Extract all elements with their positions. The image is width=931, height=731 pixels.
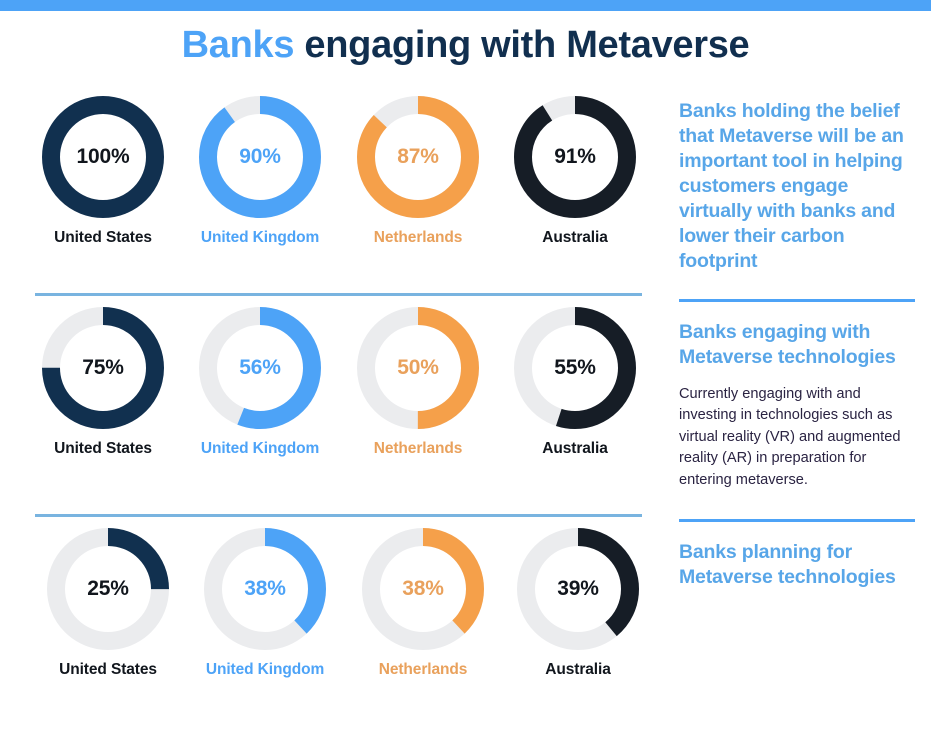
donut-value-label: 87%: [357, 96, 479, 218]
donut-chart: 87%Netherlands: [343, 96, 493, 247]
donut-country-label: United States: [28, 440, 178, 458]
donut-chart: 55%Australia: [500, 307, 650, 458]
donut-ring: 87%: [357, 96, 479, 218]
donut-ring: 75%: [42, 307, 164, 429]
donut-chart: 91%Australia: [500, 96, 650, 247]
donut-row-1: 100%United States90%United Kingdom87%Net…: [0, 96, 665, 271]
donut-country-label: Netherlands: [343, 229, 493, 247]
donut-row-2: 75%United States56%United Kingdom50%Neth…: [0, 307, 665, 482]
donut-chart: 50%Netherlands: [343, 307, 493, 458]
donut-chart: 100%United States: [28, 96, 178, 247]
donut-row-3: 25%United States38%United Kingdom38%Neth…: [0, 528, 665, 703]
donut-country-label: Netherlands: [348, 661, 498, 679]
donut-country-label: United States: [33, 661, 183, 679]
donut-value-label: 75%: [42, 307, 164, 429]
donut-ring: 39%: [517, 528, 639, 650]
side-section-2: Banks engaging with Metaverse technologi…: [679, 299, 915, 491]
side-section-1-heading: Banks holding the belief that Metaverse …: [679, 99, 915, 274]
donut-country-label: Australia: [500, 229, 650, 247]
donut-chart: 56%United Kingdom: [185, 307, 335, 458]
donut-ring: 38%: [362, 528, 484, 650]
donut-charts-area: 100%United States90%United Kingdom87%Net…: [0, 0, 665, 731]
donut-ring: 55%: [514, 307, 636, 429]
donut-chart: 39%Australia: [503, 528, 653, 679]
donut-chart: 75%United States: [28, 307, 178, 458]
donut-value-label: 90%: [199, 96, 321, 218]
side-section-3: Banks planning for Metaverse technologie…: [679, 519, 915, 590]
donut-chart: 25%United States: [33, 528, 183, 679]
donut-value-label: 55%: [514, 307, 636, 429]
side-divider-3: [679, 519, 915, 522]
donut-country-label: Australia: [503, 661, 653, 679]
donut-value-label: 91%: [514, 96, 636, 218]
donut-ring: 91%: [514, 96, 636, 218]
donut-chart: 38%Netherlands: [348, 528, 498, 679]
donut-chart: 38%United Kingdom: [190, 528, 340, 679]
side-section-1: Banks holding the belief that Metaverse …: [679, 99, 915, 274]
donut-value-label: 38%: [362, 528, 484, 650]
donut-country-label: United Kingdom: [185, 229, 335, 247]
donut-country-label: United Kingdom: [190, 661, 340, 679]
donut-value-label: 100%: [42, 96, 164, 218]
donut-value-label: 38%: [204, 528, 326, 650]
donut-country-label: United Kingdom: [185, 440, 335, 458]
donut-country-label: United States: [28, 229, 178, 247]
infographic-canvas: Banks engaging with Metaverse 100%United…: [0, 0, 931, 731]
side-section-3-heading: Banks planning for Metaverse technologie…: [679, 540, 915, 590]
donut-ring: 56%: [199, 307, 321, 429]
donut-ring: 90%: [199, 96, 321, 218]
donut-ring: 100%: [42, 96, 164, 218]
side-section-2-body: Currently engaging with and investing in…: [679, 384, 915, 491]
row-divider-1: [35, 293, 642, 296]
donut-ring: 50%: [357, 307, 479, 429]
donut-ring: 25%: [47, 528, 169, 650]
donut-country-label: Netherlands: [343, 440, 493, 458]
donut-value-label: 56%: [199, 307, 321, 429]
donut-value-label: 25%: [47, 528, 169, 650]
donut-value-label: 50%: [357, 307, 479, 429]
row-divider-2: [35, 514, 642, 517]
donut-country-label: Australia: [500, 440, 650, 458]
side-section-2-heading: Banks engaging with Metaverse technologi…: [679, 320, 915, 370]
side-divider-2: [679, 299, 915, 302]
donut-ring: 38%: [204, 528, 326, 650]
donut-value-label: 39%: [517, 528, 639, 650]
donut-chart: 90%United Kingdom: [185, 96, 335, 247]
